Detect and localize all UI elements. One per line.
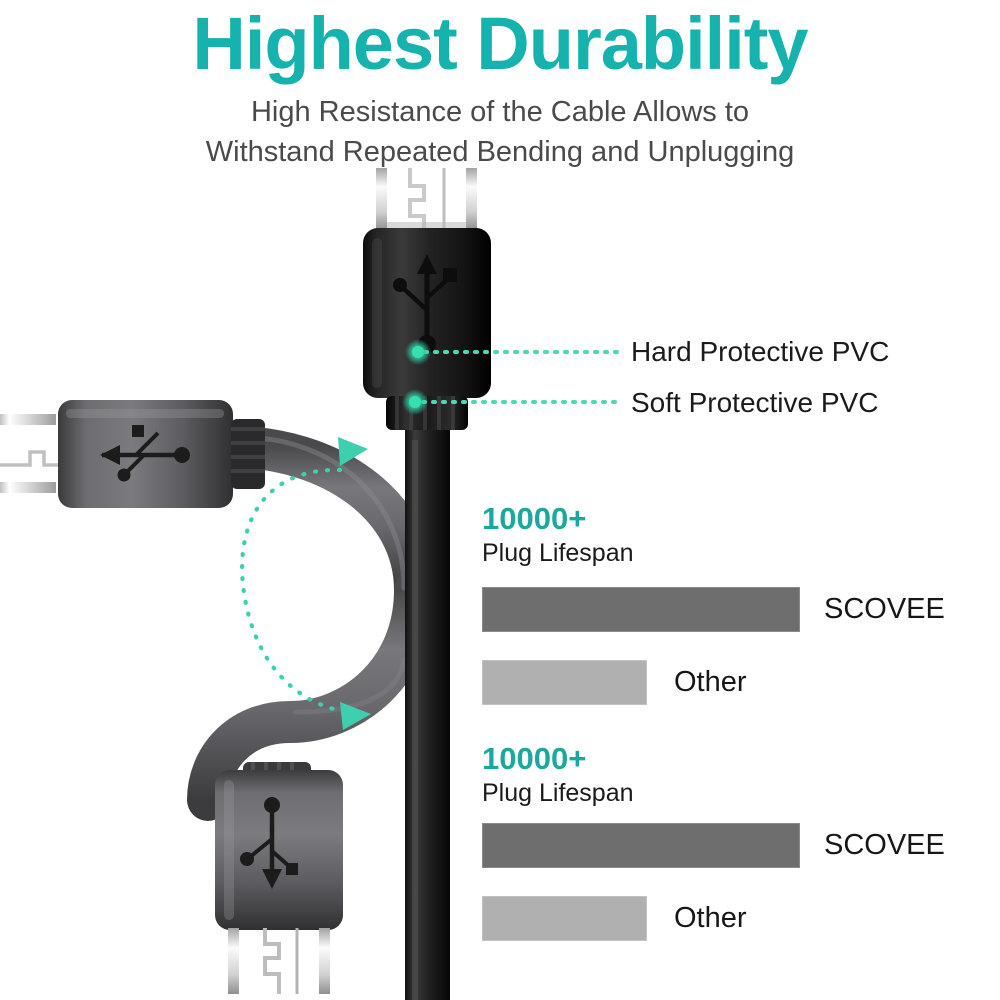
bar-row-brand: SCOVEE xyxy=(482,587,945,632)
bar-row-other: Other xyxy=(482,896,945,941)
bend-arrow-annotation xyxy=(242,470,360,712)
stat-caption: Plug Lifespan xyxy=(482,778,945,809)
stat-value: 10000+ xyxy=(482,743,945,776)
usb-metal-tip-top xyxy=(376,168,477,231)
callout-dot-hard xyxy=(412,346,424,358)
bar-brand xyxy=(482,823,800,868)
callout-label-hard-pvc: Hard Protective PVC xyxy=(631,338,889,366)
strain-relief-left xyxy=(231,419,265,489)
bar-label-other: Other xyxy=(674,666,747,699)
subtitle-line-2: Withstand Repeated Bending and Unpluggin… xyxy=(0,132,1000,172)
bar-label-brand: SCOVEE xyxy=(824,829,945,862)
bar-label-brand: SCOVEE xyxy=(824,593,945,626)
bar-other xyxy=(482,660,647,705)
bar-brand xyxy=(482,587,800,632)
subtitle-line-1: High Resistance of the Cable Allows to xyxy=(0,92,1000,132)
stat-caption: Plug Lifespan xyxy=(482,538,945,569)
gray-cable xyxy=(208,437,415,800)
lifespan-stat-block-2: 10000+ Plug Lifespan SCOVEE Other xyxy=(482,743,945,941)
bar-row-brand: SCOVEE xyxy=(482,823,945,868)
stat-value: 10000+ xyxy=(482,503,945,536)
usb-metal-tip-bottom xyxy=(228,928,330,994)
bar-row-other: Other xyxy=(482,660,945,705)
lifespan-stat-block-1: 10000+ Plug Lifespan SCOVEE Other xyxy=(482,503,945,705)
bar-other xyxy=(482,896,647,941)
usb-metal-tip-left xyxy=(0,414,58,493)
page-title: Highest Durability xyxy=(0,6,1000,81)
callout-dot-soft xyxy=(409,396,421,408)
black-cable-front xyxy=(405,425,450,1000)
usb-connector-left xyxy=(0,400,265,508)
page-subtitle: High Resistance of the Cable Allows to W… xyxy=(0,92,1000,172)
infographic-canvas: Highest Durability High Resistance of th… xyxy=(0,0,1000,1000)
usb-connector-bottom xyxy=(215,762,343,994)
callout-label-soft-pvc: Soft Protective PVC xyxy=(631,389,878,417)
usb-connector-top xyxy=(363,168,491,430)
bar-label-other: Other xyxy=(674,902,747,935)
